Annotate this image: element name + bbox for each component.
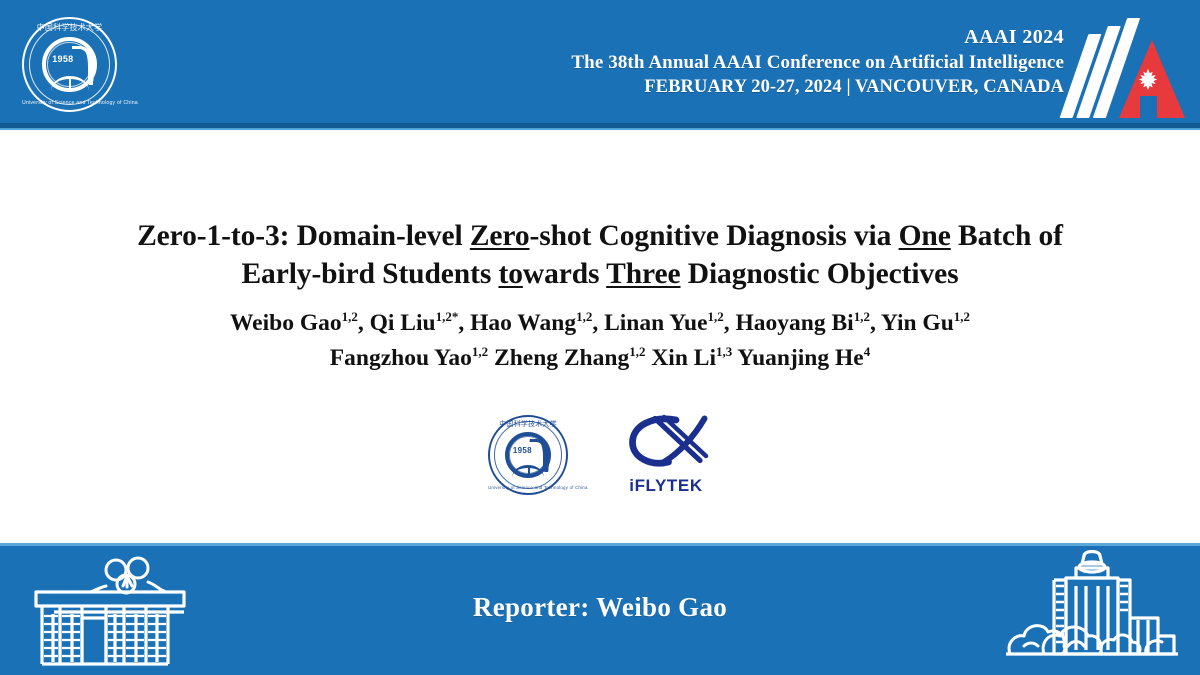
author-affiliation-marker: 1,2 [854,309,870,324]
author-affiliation-marker: 1,2 [708,309,724,324]
title-underline-zero: Zero [470,220,530,252]
conference-full-name: The 38th Annual AAAI Conference on Artif… [571,50,1064,75]
emblem-english-name: University of Science and Technology of … [22,101,117,106]
page-title: Zero-1-to-3: Domain-level Zero-shot Cogn… [90,217,1110,293]
author-name: Fangzhou Yao [330,345,472,371]
author-affiliation-marker: 1,2 [629,344,645,359]
author-affiliation-marker: 1,2 [576,309,592,324]
author-name: Qi Liu [370,310,436,336]
presentation-title-slide: 中国科学技术大学 1958 University of Science and … [0,0,1200,675]
aaai-vancouver-logo-icon [1070,8,1188,118]
author-affiliation-marker: 1,3 [716,344,732,359]
ustc-emblem-icon: 中国科学技术大学 1958 University of Science and … [22,17,117,112]
emblem-wave-icon-2 [75,48,90,78]
emblem-chinese-name: 中国科学技术大学 [488,421,568,428]
conference-info: AAAI 2024 The 38th Annual AAAI Conferenc… [571,25,1064,100]
author-name: Zheng Zhang [494,345,629,371]
title-line-1: Zero-1-to-3: Domain-level Zero-shot Cogn… [90,217,1110,255]
aaai-triangle-notch [1140,96,1157,118]
title-seg-4: Early-bird Students [241,258,498,290]
emblem-english-name: University of Science and Technology of … [488,486,568,490]
author-affiliation-marker: 1,2 [342,309,358,324]
author-name: Yin Gu [881,310,954,336]
ustc-logo: 中国科学技术大学 1958 University of Science and … [488,415,568,495]
title-seg-2: -shot Cognitive Diagnosis via [530,220,899,252]
iflytek-logo: iFLYTEK [620,414,712,496]
emblem-year: 1958 [512,447,533,455]
author-name: Xin Li [651,345,716,371]
title-underline-one: One [899,220,951,252]
title-seg-1: Zero-1-to-3: Domain-level [137,220,470,252]
author-affiliation-marker: 1,2 [472,344,488,359]
iflytek-wordmark: iFLYTEK [620,476,712,496]
maple-leaf-icon [1137,66,1159,92]
header-divider-light [0,128,1200,130]
author-name: Weibo Gao [230,310,342,336]
emblem-chinese-name: 中国科学技术大学 [22,24,117,32]
author-list: Weibo Gao1,2, Qi Liu1,2*, Hao Wang1,2, L… [100,306,1100,376]
title-seg-6: Diagnostic Objectives [680,258,958,290]
author-affiliation-marker: 4 [864,344,871,359]
author-affiliation-marker: 1,2 [954,309,970,324]
author-name: Hao Wang [470,310,576,336]
author-line-1: Weibo Gao1,2, Qi Liu1,2*, Hao Wang1,2, L… [100,306,1100,341]
title-underline-to: to [498,258,522,290]
author-separator: , [458,310,470,336]
iflytek-mark-icon [622,414,712,468]
author-separator: , [358,310,370,336]
author-line-2: Fangzhou Yao1,2 Zheng Zhang1,2 Xin Li1,3… [100,341,1100,376]
title-line-2: Early-bird Students towards Three Diagno… [90,255,1110,293]
author-name: Linan Yue [604,310,707,336]
title-seg-3: Batch of [951,220,1063,252]
author-affiliation-marker: 1,2* [436,309,459,324]
emblem-year: 1958 [51,55,76,64]
author-separator: , [592,310,604,336]
author-name: Yuanjing He [737,345,863,371]
reporter-label: Reporter: Weibo Gao [0,592,1200,623]
author-separator: , [724,310,736,336]
title-underline-three: Three [606,258,680,290]
conference-date-location: FEBRUARY 20-27, 2024 | VANCOUVER, CANADA [571,75,1064,100]
author-separator: , [870,310,881,336]
author-name: Haoyang Bi [736,310,854,336]
conference-name: AAAI 2024 [571,25,1064,50]
affiliation-logos: 中国科学技术大学 1958 University of Science and … [0,405,1200,505]
title-seg-5: wards [523,258,606,290]
